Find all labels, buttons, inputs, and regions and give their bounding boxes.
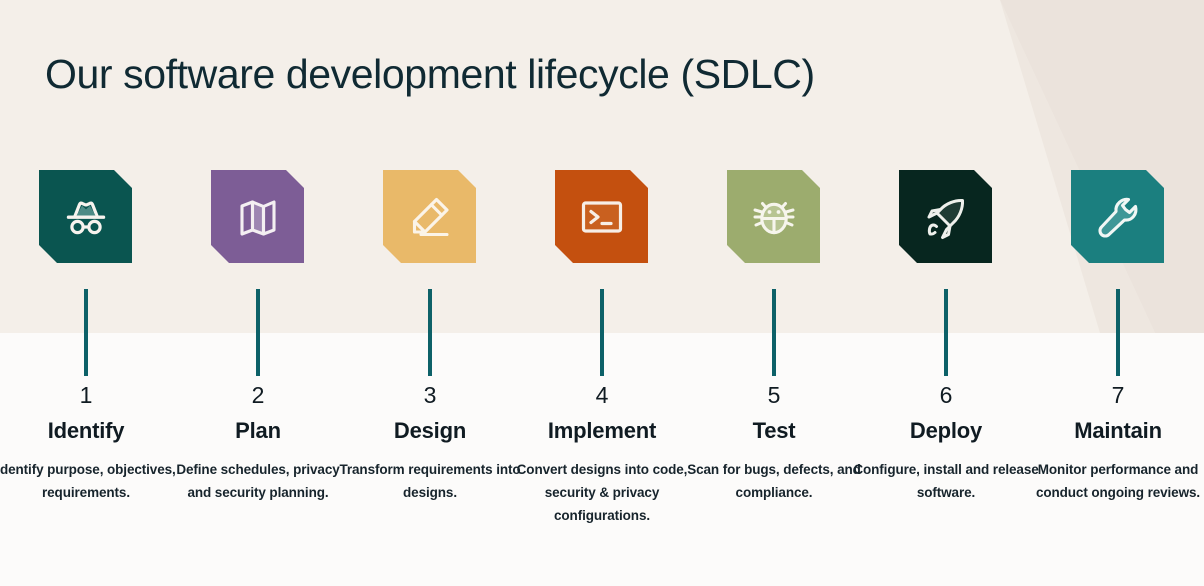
step-plan[interactable]: 2 Plan Define schedules, privacy and sec…	[172, 0, 344, 586]
connector-line-plan	[256, 289, 260, 376]
wrench-icon	[1091, 190, 1145, 244]
step-tile-test[interactable]	[727, 170, 820, 263]
rocket-icon	[919, 190, 973, 244]
step-deploy[interactable]: 6 Deploy Configure, install and release …	[860, 0, 1032, 586]
step-name-plan: Plan	[172, 415, 344, 447]
step-number-design: 3	[344, 381, 516, 409]
step-name-maintain: Maintain	[1032, 415, 1204, 447]
step-description-implement: Convert designs into code, security & pr…	[508, 458, 696, 527]
connector-line-implement	[600, 289, 604, 376]
sdlc-step-list: 1 Identify Identify purpose, objectives,…	[0, 0, 1204, 586]
step-tile-implement[interactable]	[555, 170, 648, 263]
step-number-maintain: 7	[1032, 381, 1204, 409]
step-tile-maintain[interactable]	[1071, 170, 1164, 263]
step-number-plan: 2	[172, 381, 344, 409]
step-design[interactable]: 3 Design Transform requirements into des…	[344, 0, 516, 586]
map-icon	[231, 190, 285, 244]
step-number-implement: 4	[516, 381, 688, 409]
step-name-deploy: Deploy	[860, 415, 1032, 447]
step-test[interactable]: 5 Test Scan for bugs, defects, and compl…	[688, 0, 860, 586]
step-tile-plan[interactable]	[211, 170, 304, 263]
step-number-deploy: 6	[860, 381, 1032, 409]
terminal-icon	[575, 190, 629, 244]
pencil-edit-icon	[403, 190, 457, 244]
step-description-identify: Identify purpose, objectives, requiremen…	[0, 458, 180, 504]
step-description-plan: Define schedules, privacy and security p…	[164, 458, 352, 504]
step-implement[interactable]: 4 Implement Convert designs into code, s…	[516, 0, 688, 586]
infographic-canvas: Our software development lifecycle (SDLC…	[0, 0, 1204, 586]
step-description-deploy: Configure, install and release software.	[852, 458, 1040, 504]
step-name-identify: Identify	[0, 415, 172, 447]
bug-icon	[747, 190, 801, 244]
step-name-design: Design	[344, 415, 516, 447]
connector-line-identify	[84, 289, 88, 376]
connector-line-maintain	[1116, 289, 1120, 376]
step-name-test: Test	[688, 415, 860, 447]
step-tile-design[interactable]	[383, 170, 476, 263]
incognito-detective-icon	[58, 189, 114, 245]
step-number-identify: 1	[0, 381, 172, 409]
connector-line-test	[772, 289, 776, 376]
step-tile-identify[interactable]	[39, 170, 132, 263]
connector-line-design	[428, 289, 432, 376]
step-description-test: Scan for bugs, defects, and compliance.	[680, 458, 868, 504]
step-name-implement: Implement	[516, 415, 688, 447]
step-tile-deploy[interactable]	[899, 170, 992, 263]
step-number-test: 5	[688, 381, 860, 409]
step-maintain[interactable]: 7 Maintain Monitor performance and condu…	[1032, 0, 1204, 586]
step-identify[interactable]: 1 Identify Identify purpose, objectives,…	[0, 0, 172, 586]
connector-line-deploy	[944, 289, 948, 376]
step-description-maintain: Monitor performance and conduct ongoing …	[1024, 458, 1204, 504]
step-description-design: Transform requirements into designs.	[336, 458, 524, 504]
